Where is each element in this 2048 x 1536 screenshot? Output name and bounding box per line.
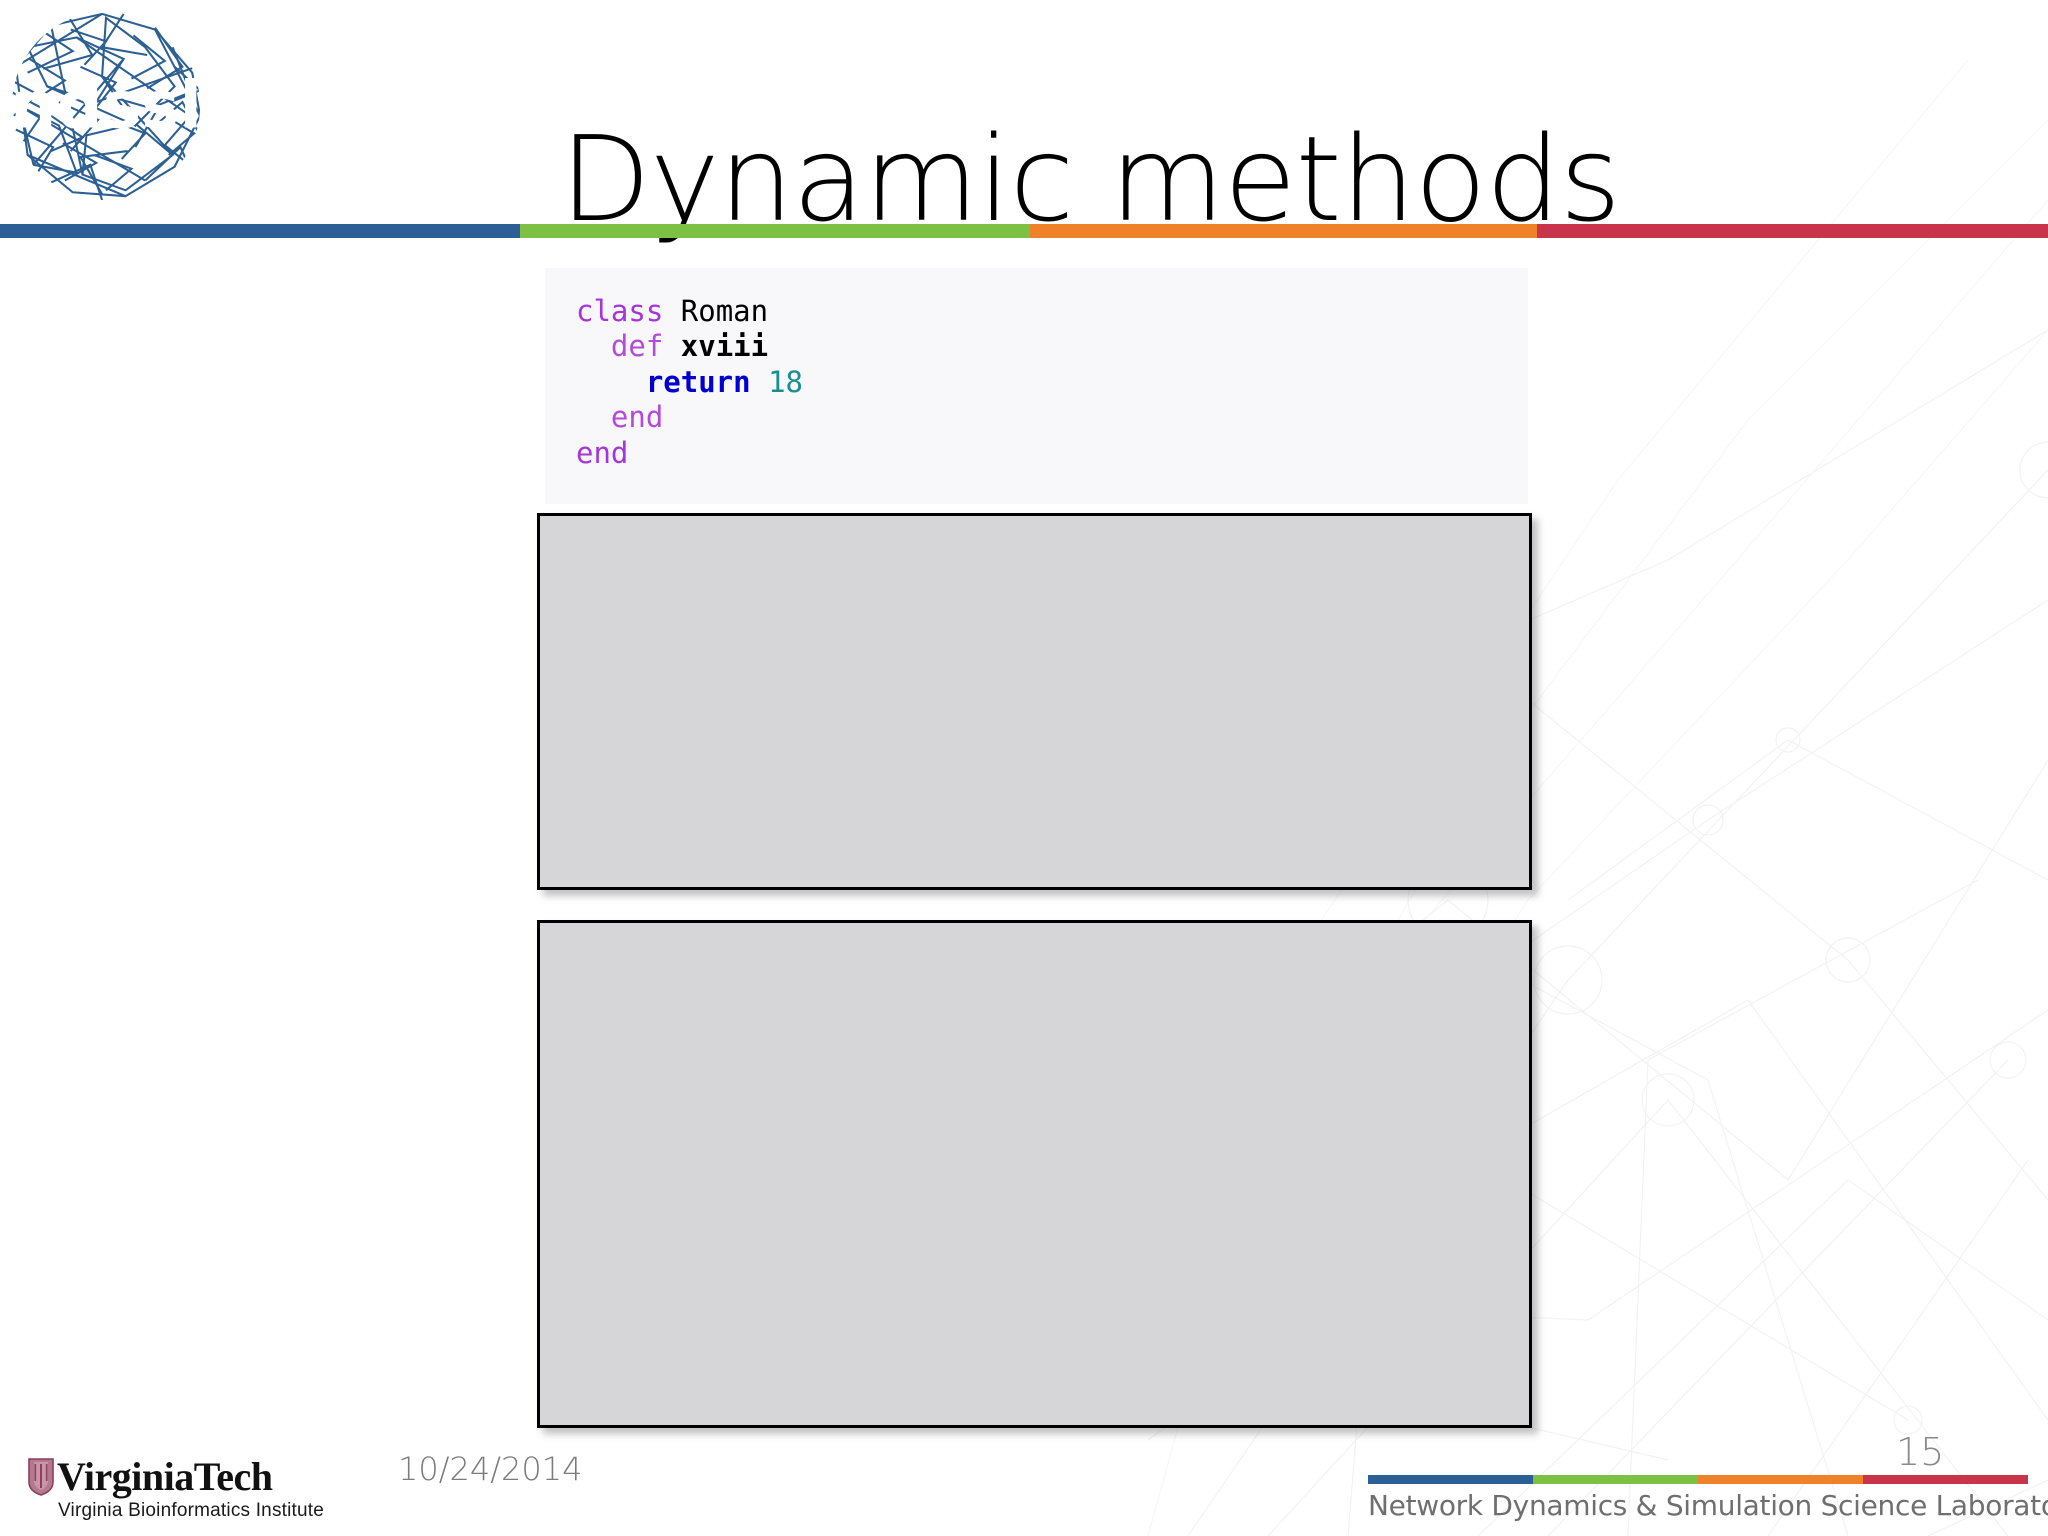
footer-brand-text: Network Dynamics & Simulation Science La…	[1368, 1489, 2028, 1522]
page-number: 15	[1896, 1430, 1944, 1474]
header-rule-segment-blue	[0, 224, 520, 238]
vt-subtitle: Virginia Bioinformatics Institute	[58, 1500, 338, 1522]
code-keyword-return: return	[646, 365, 751, 399]
ndssl-logo: ndssl	[8, 8, 204, 204]
header-color-rule	[0, 224, 2048, 238]
footer-rule-segment-orange	[1698, 1475, 1863, 1484]
output-placeholder-box-1	[537, 513, 1532, 890]
code-text: class Roman def xviii return 18 end end	[576, 294, 1528, 471]
code-keyword-end-inner: end	[611, 400, 663, 434]
header-rule-segment-red	[1537, 224, 2048, 238]
code-method-name: xviii	[681, 329, 768, 363]
footer-color-rule	[1368, 1475, 2028, 1484]
virginia-tech-logo: VirginiaTech Virginia Bioinformatics Ins…	[28, 1458, 338, 1522]
page-title: Dynamic methods	[560, 120, 1760, 238]
vt-shield-icon	[28, 1458, 54, 1496]
code-number-literal: 18	[768, 365, 803, 399]
ruby-code-sample: class Roman def xviii return 18 end end	[545, 268, 1528, 504]
output-placeholder-box-2	[537, 920, 1532, 1428]
footer-brand: Network Dynamics & Simulation Science La…	[1368, 1475, 2028, 1522]
footer-rule-segment-green	[1533, 1475, 1698, 1484]
vt-wordmark: VirginiaTech	[57, 1458, 273, 1496]
code-keyword-def: def	[611, 329, 663, 363]
code-keyword-class: class	[576, 294, 663, 328]
header-rule-segment-green	[520, 224, 1030, 238]
slide-date: 10/24/2014	[398, 1450, 582, 1488]
footer-rule-segment-red	[1863, 1475, 2028, 1484]
header-rule-segment-orange	[1030, 224, 1537, 238]
footer-rule-segment-blue	[1368, 1475, 1533, 1484]
code-keyword-end-outer: end	[576, 436, 628, 470]
code-class-name: Roman	[681, 294, 768, 328]
